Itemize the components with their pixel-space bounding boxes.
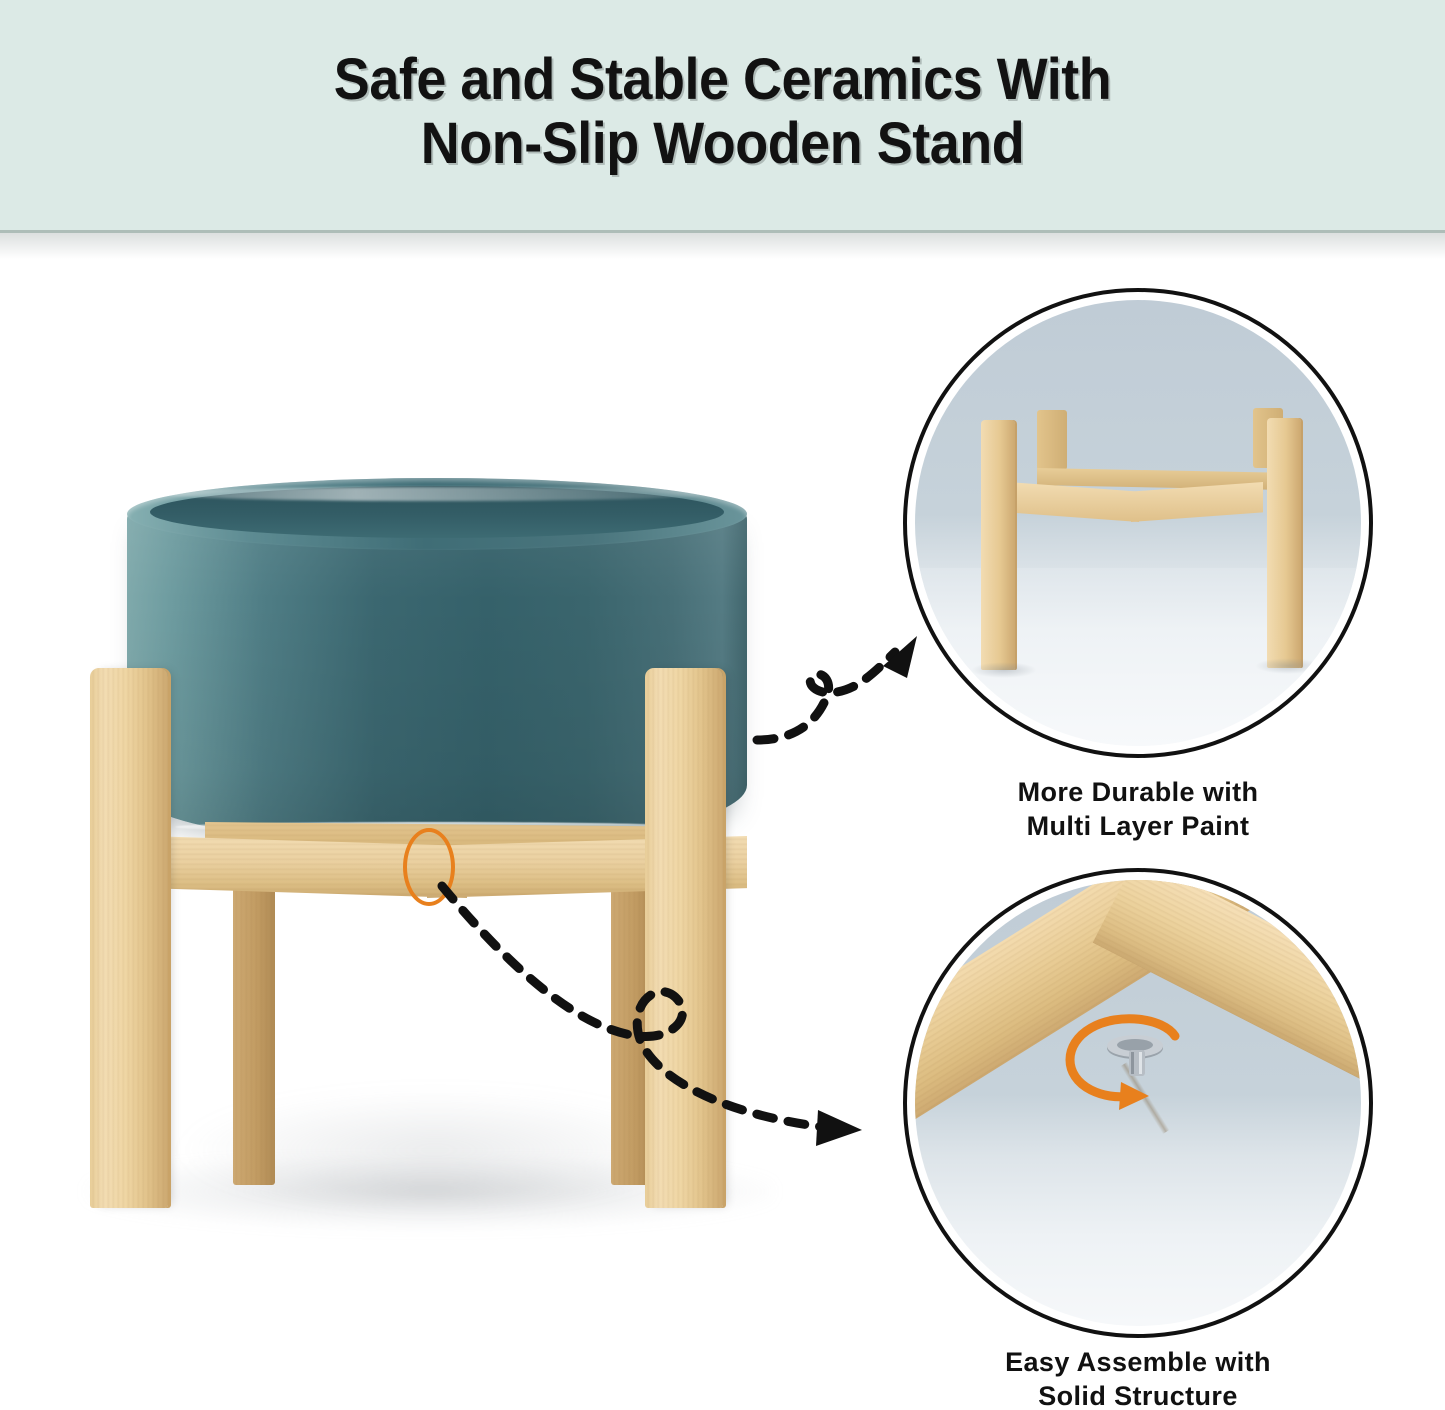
inset-assembly-photo [915, 880, 1361, 1326]
inset-durability-photo [915, 300, 1361, 746]
inset-stand-front-left-rail [1007, 482, 1139, 522]
wood-grain-texture [90, 668, 168, 1208]
arrow-dashed-path [757, 652, 895, 740]
inset-durability [903, 288, 1373, 758]
inset-durability-caption: More Durable with Multi Layer Paint [903, 775, 1373, 843]
header-banner: Safe and Stable Ceramics With Non-Slip W… [0, 0, 1445, 233]
rotation-arrow-icon [1043, 998, 1223, 1138]
inset-stand-front-left-leg [981, 420, 1015, 670]
inset-stand-back-left-leg [1037, 410, 1067, 470]
inset-shadow-left [971, 662, 1037, 678]
arrow-head [816, 1110, 862, 1146]
inset-shadow-right [1255, 658, 1321, 674]
callout-arrow-assembly [400, 860, 920, 1160]
page-title: Safe and Stable Ceramics With Non-Slip W… [51, 48, 1395, 176]
header-drop-shadow [0, 233, 1445, 259]
inset-stand-front-right-leg [1267, 418, 1301, 668]
inset-assembly-caption: Easy Assemble with Solid Structure [903, 1345, 1373, 1410]
inset-assembly [903, 868, 1373, 1338]
arrow-dashed-path [442, 886, 830, 1128]
inset-stand-front-right-rail [1131, 482, 1263, 522]
product-infographic-page: Safe and Stable Ceramics With Non-Slip W… [0, 0, 1445, 1410]
bowl-rim-highlight [165, 487, 710, 501]
stand-front-left-leg [90, 668, 168, 1208]
